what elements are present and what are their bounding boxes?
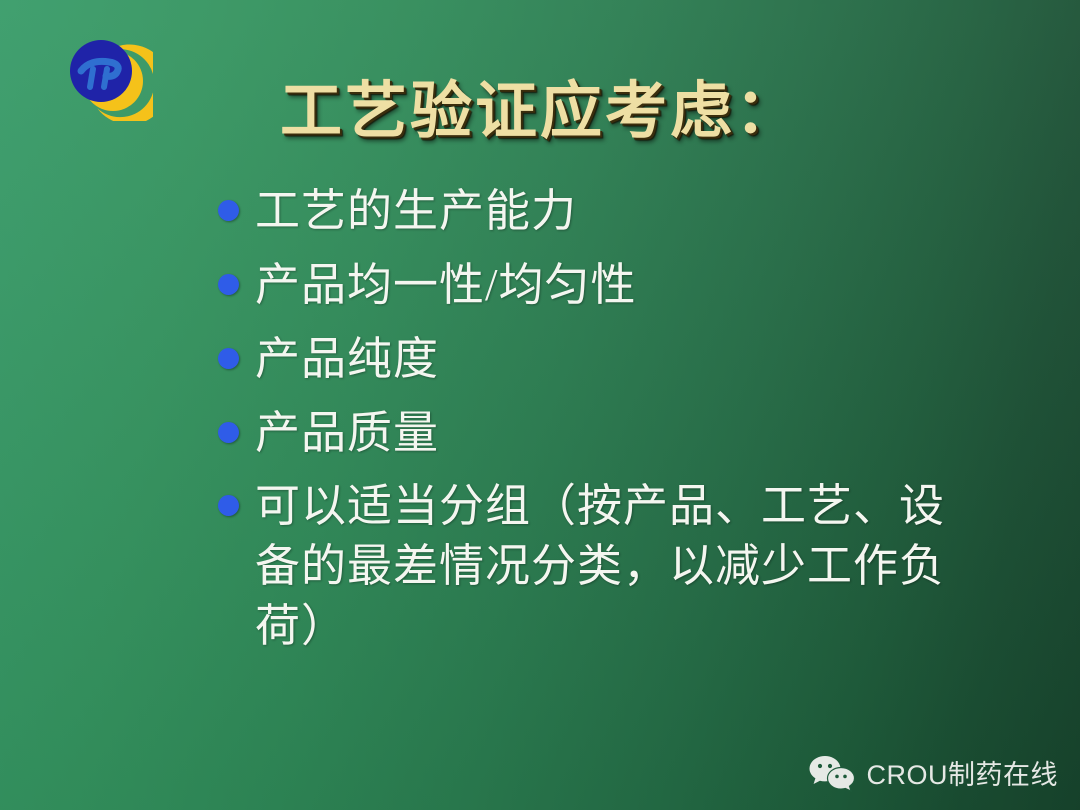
- list-item: 产品纯度: [218, 330, 1038, 390]
- bullet-list: 工艺的生产能力 产品均一性/均匀性 产品纯度 产品质量 可以适当分组（按产品、工…: [218, 182, 1038, 671]
- bullet-dot-icon: [218, 200, 239, 221]
- list-item: 产品质量: [218, 404, 1038, 464]
- watermark-label: CROU制药在线: [867, 753, 1059, 792]
- list-item-label: 产品纯度: [255, 330, 1038, 390]
- bullet-dot-icon: [218, 348, 239, 369]
- list-item-label: 可以适当分组（按产品、工艺、设备的最差情况分类，以减少工作负荷）: [255, 477, 990, 657]
- list-item: 工艺的生产能力: [218, 182, 1038, 242]
- list-item-label: 产品质量: [255, 404, 1038, 464]
- bullet-dot-icon: [218, 422, 239, 443]
- list-item: 产品均一性/均匀性: [218, 256, 1038, 316]
- list-item-label: 工艺的生产能力: [255, 182, 1038, 242]
- slide-canvas: 工艺验证应考虑： 工艺的生产能力 产品均一性/均匀性 产品纯度 产品质量 可以适…: [0, 0, 1080, 810]
- list-item-label: 产品均一性/均匀性: [255, 256, 1038, 316]
- wechat-icon: [809, 754, 855, 792]
- bullet-dot-icon: [218, 495, 239, 516]
- page-title: 工艺验证应考虑：: [0, 60, 1080, 150]
- watermark: CROU制药在线: [809, 753, 1059, 792]
- bullet-dot-icon: [218, 274, 239, 295]
- list-item: 可以适当分组（按产品、工艺、设备的最差情况分类，以减少工作负荷）: [218, 477, 1038, 657]
